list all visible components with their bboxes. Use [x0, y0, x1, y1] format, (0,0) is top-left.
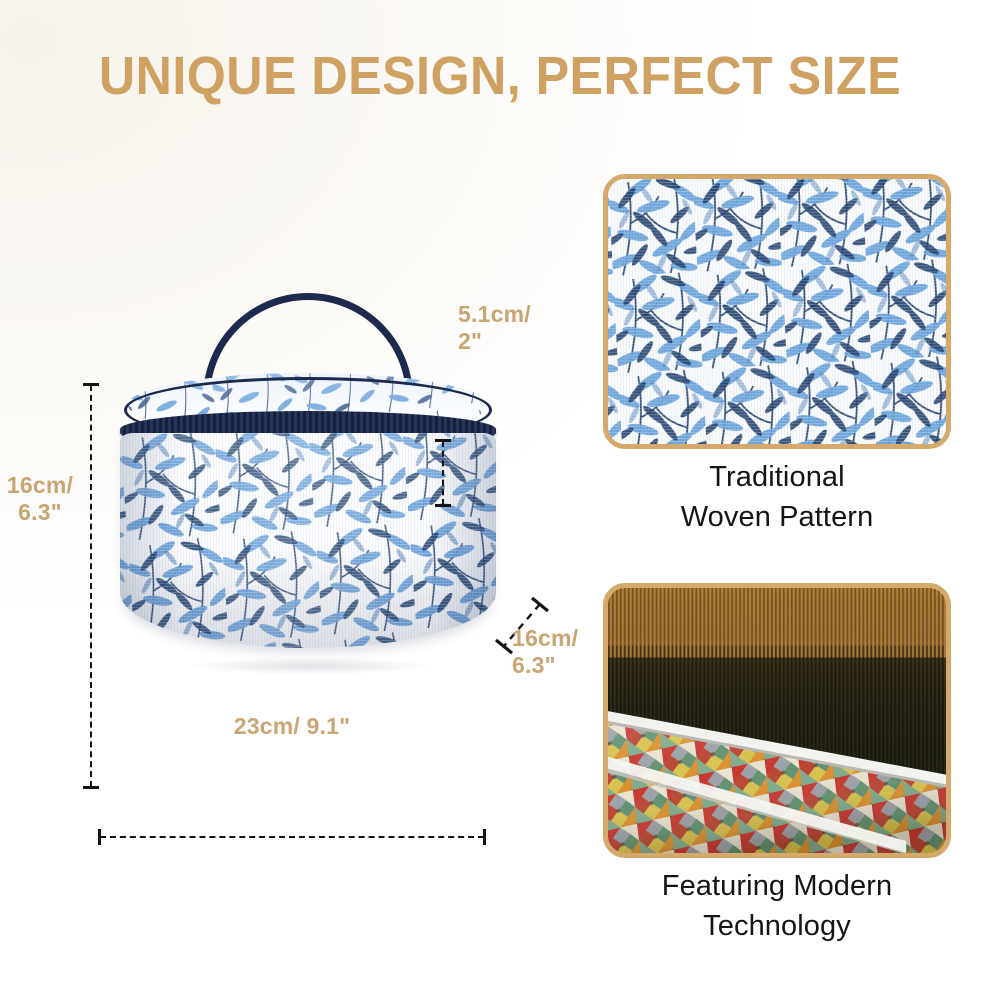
product-image-vanity-case	[118, 375, 498, 665]
dimension-label-lid-height: 5.1cm/ 2"	[458, 301, 568, 355]
dimension-label-width: 23cm/ 9.1"	[142, 713, 442, 740]
photo-card-pattern[interactable]	[603, 174, 951, 449]
jacquard-loom-image	[608, 588, 946, 853]
dimension-line-height	[82, 381, 100, 791]
infographic-canvas: UNIQUE DESIGN, PERFECT SIZE	[0, 0, 1000, 1000]
dimension-line-width	[96, 828, 488, 846]
photo-card-loom[interactable]	[603, 583, 951, 858]
caption-featuring-modern-technology: Featuring Modern Technology	[567, 866, 987, 946]
product-dimension-panel: 5.1cm/ 2" 16cm/ 6.3" 23cm/ 9.1"	[0, 150, 600, 790]
dimension-label-height: 16cm/ 6.3"	[2, 472, 78, 526]
woven-pattern-image	[608, 179, 946, 444]
page-title: UNIQUE DESIGN, PERFECT SIZE	[35, 48, 965, 105]
dimension-line-lid-height	[434, 437, 452, 509]
caption-traditional-woven-pattern: Traditional Woven Pattern	[567, 457, 987, 537]
